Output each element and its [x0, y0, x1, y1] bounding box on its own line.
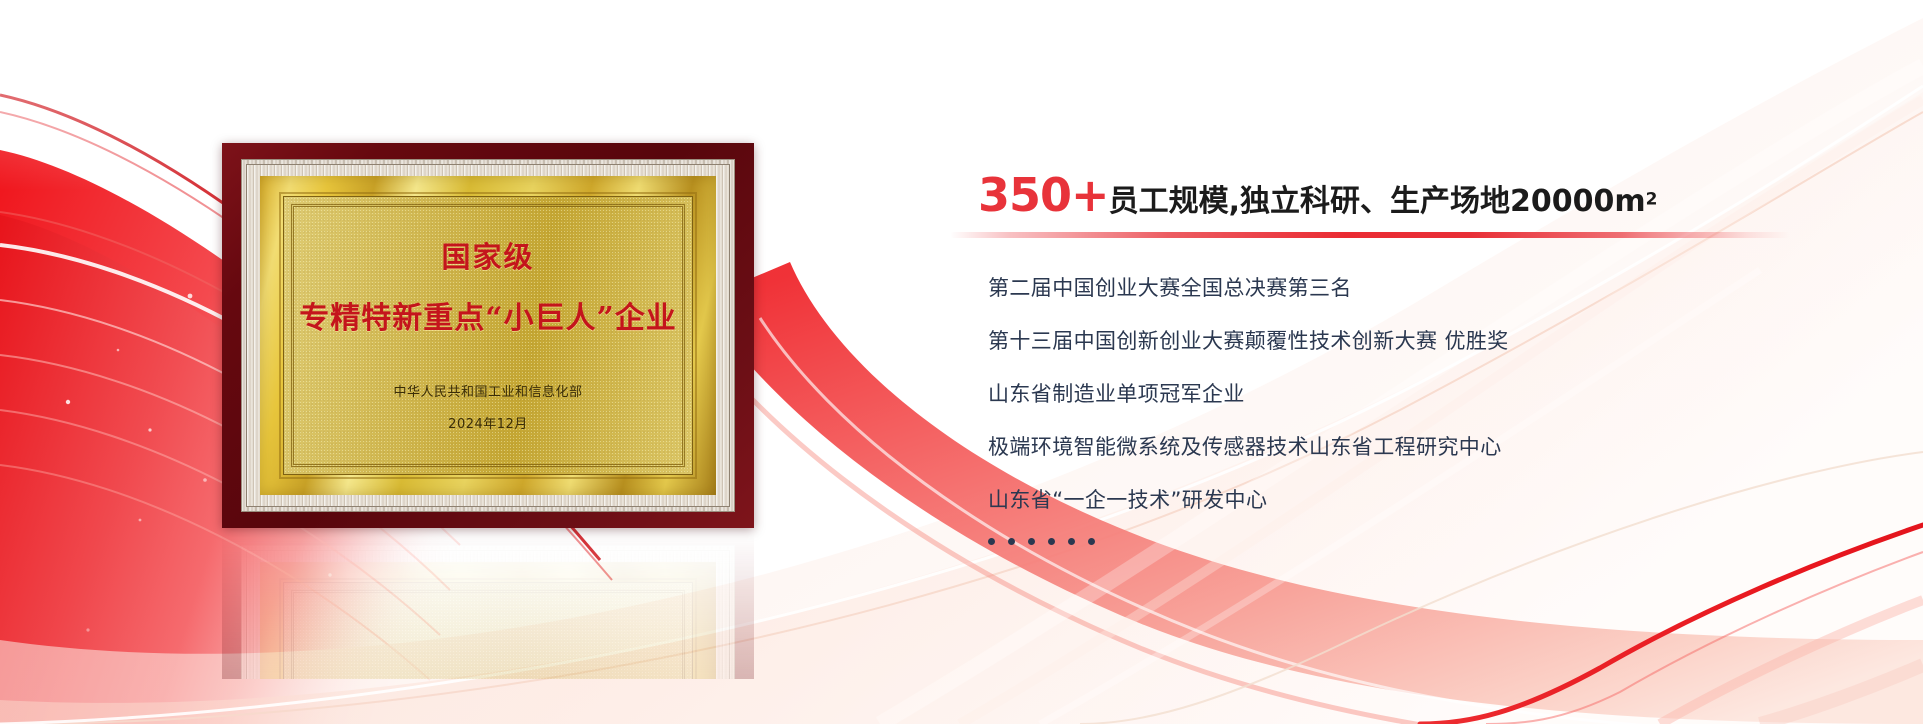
list-item: 山东省“一企一技术”研发中心 — [988, 484, 1868, 514]
headline-underline-rule — [950, 232, 1790, 238]
headline-text: 员工规模,独立科研、生产场地20000m — [1109, 184, 1646, 219]
ellipsis-dot — [1068, 538, 1075, 545]
list-item: 第二届中国创业大赛全国总决赛第三名 — [988, 272, 1868, 302]
ellipsis-dot — [988, 538, 995, 545]
credentials-more-ellipsis — [988, 538, 1095, 545]
headline-number: 350+ — [978, 168, 1109, 222]
list-item: 山东省制造业单项冠军企业 — [988, 378, 1868, 408]
plaque-outer-frame: 国家级 专精特新重点“小巨人”企业 中华人民共和国工业和信息化部 2024年12… — [222, 143, 754, 528]
ellipsis-dot — [1008, 538, 1015, 545]
headline: 350+员工规模,独立科研、生产场地20000m2 — [978, 172, 1657, 218]
ellipsis-dot — [1028, 538, 1035, 545]
headline-superscript: 2 — [1646, 190, 1658, 210]
list-item: 第十三届中国创新创业大赛颠覆性技术创新大赛 优胜奖 — [988, 325, 1868, 355]
plaque-gold-inner-panel — [283, 196, 693, 475]
award-plaque: 国家级 专精特新重点“小巨人”企业 中华人民共和国工业和信息化部 2024年12… — [222, 143, 754, 528]
ellipsis-dot — [1048, 538, 1055, 545]
credentials-list: 第二届中国创业大赛全国总决赛第三名 第十三届中国创新创业大赛颠覆性技术创新大赛 … — [988, 272, 1868, 537]
banner-stage: 国家级 专精特新重点“小巨人”企业 中华人民共和国工业和信息化部 2024年12… — [0, 0, 1923, 724]
plaque-gold-plate: 国家级 专精特新重点“小巨人”企业 中华人民共和国工业和信息化部 2024年12… — [260, 176, 716, 495]
list-item: 极端环境智能微系统及传感器技术山东省工程研究中心 — [988, 431, 1868, 461]
ellipsis-dot — [1088, 538, 1095, 545]
